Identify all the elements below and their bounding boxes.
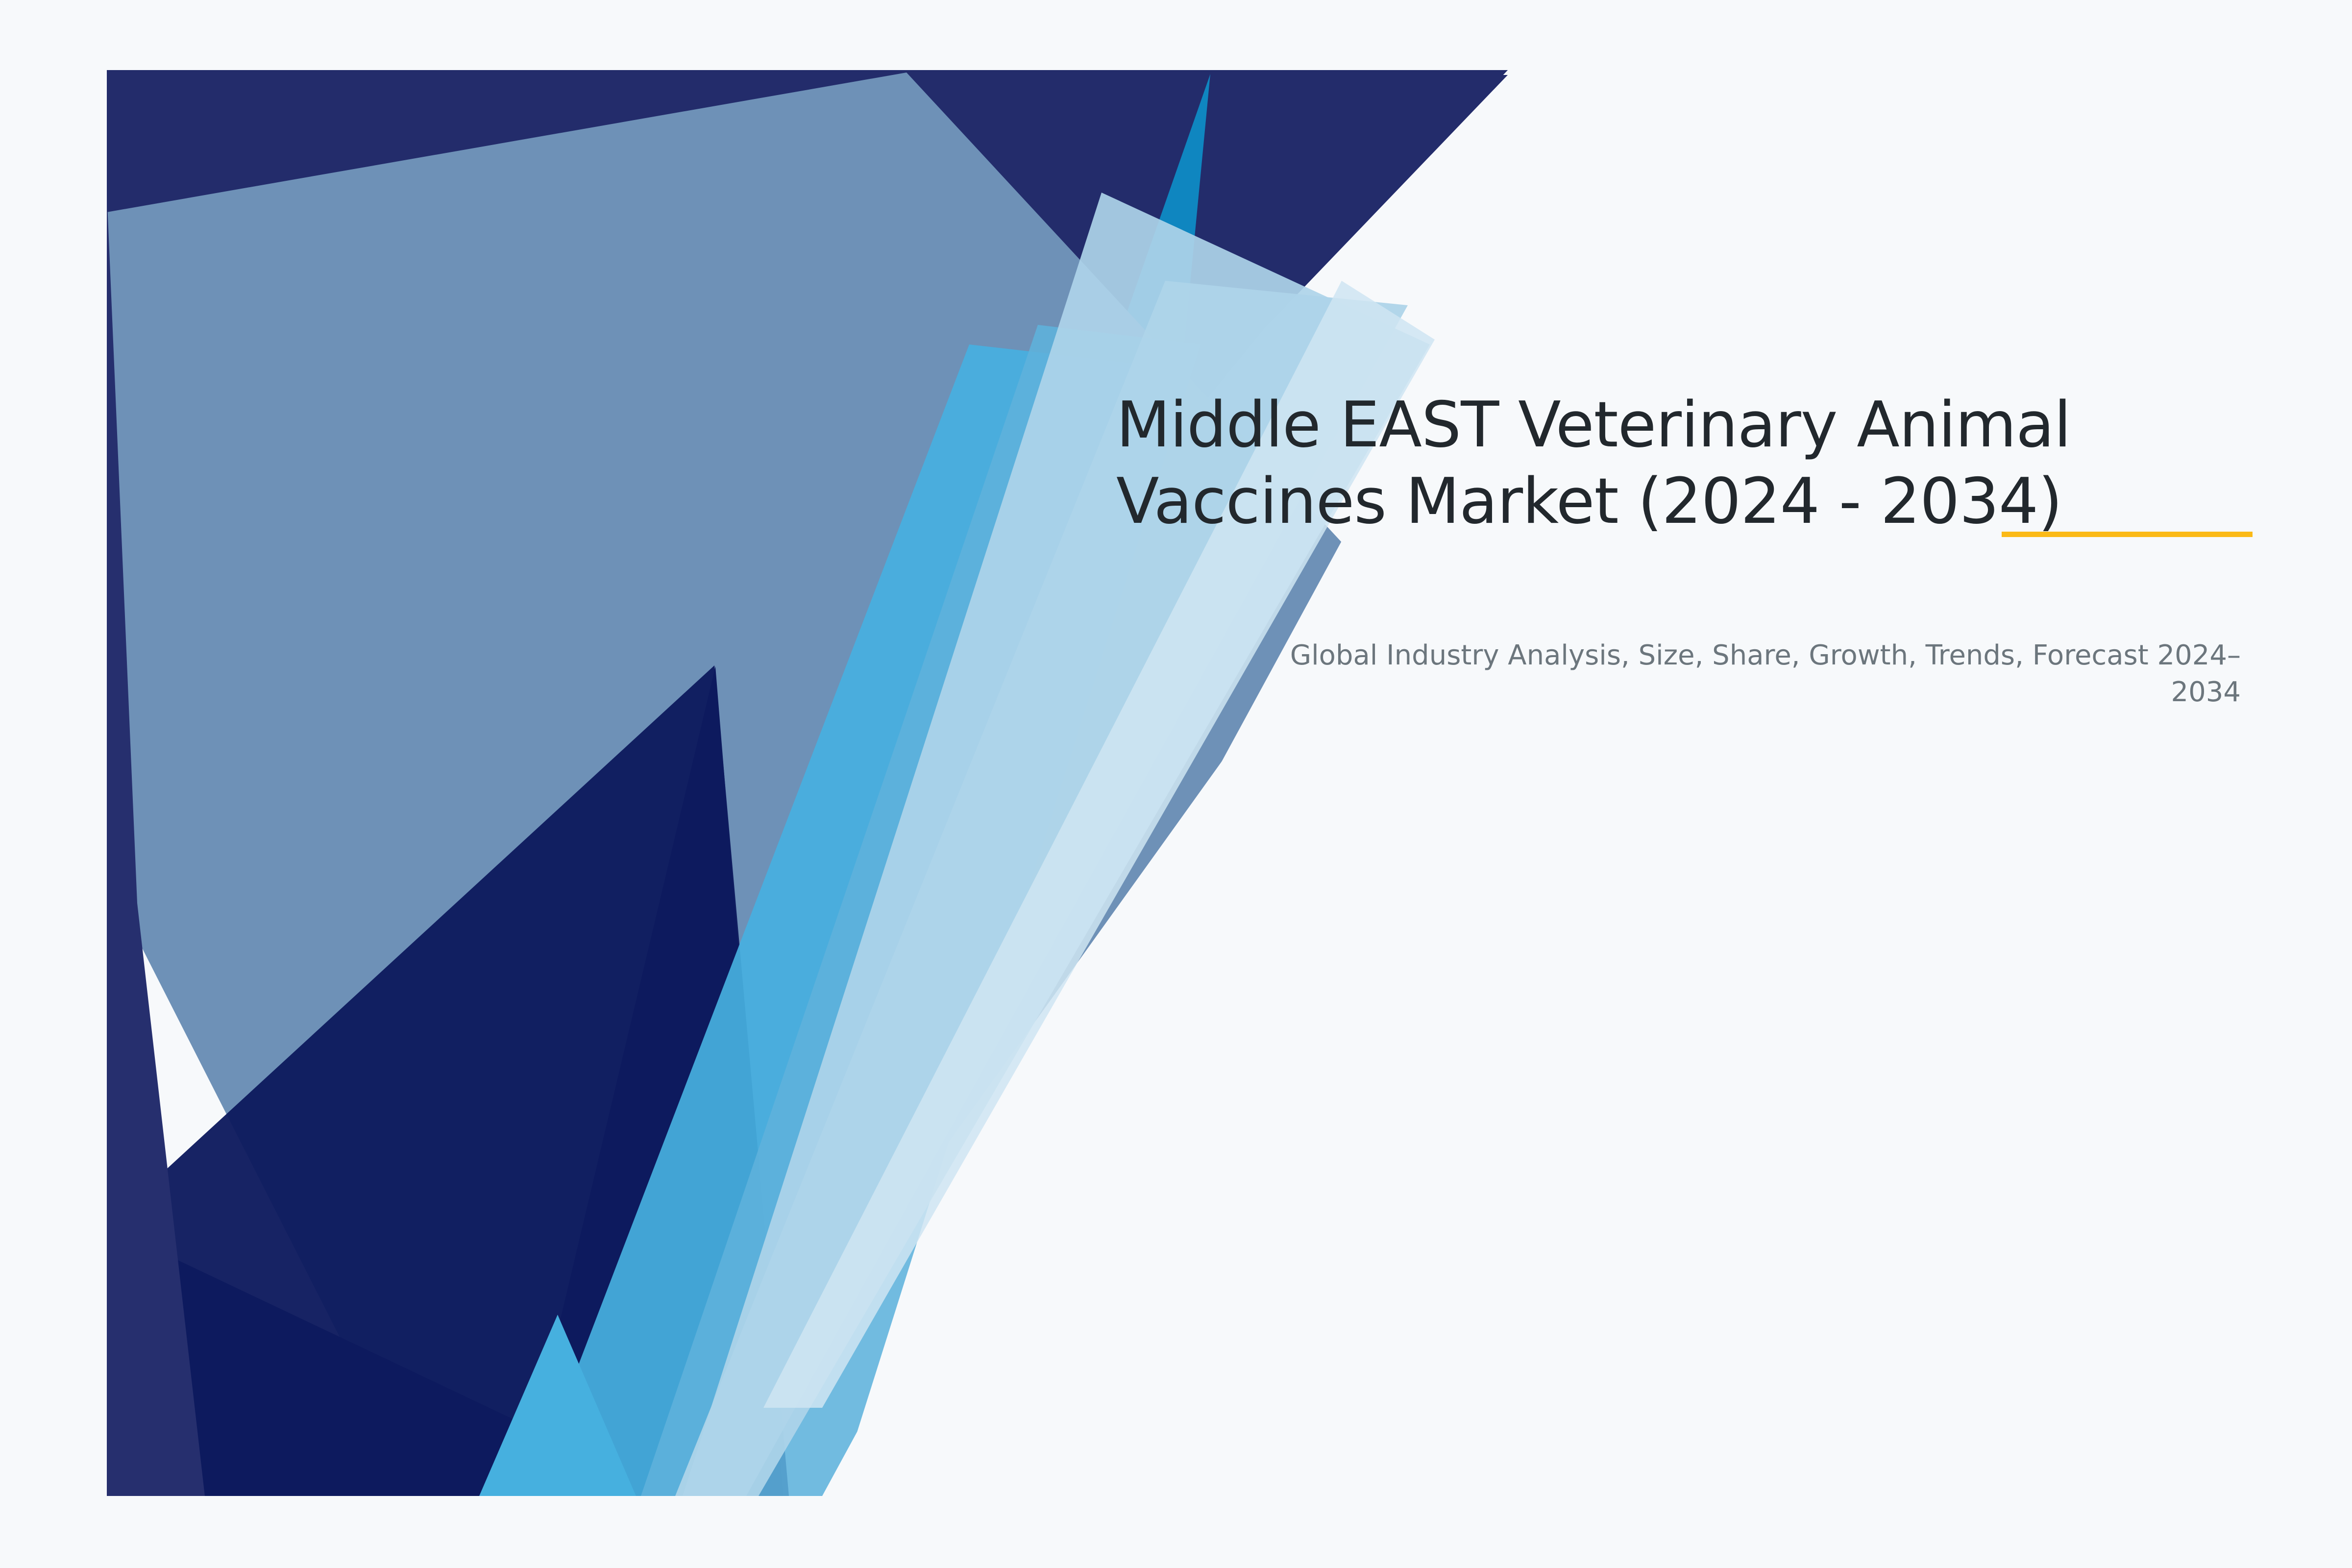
abstract-geometric-cover-graphic [107,70,1509,1496]
title-underline-accent [2002,532,2253,537]
page-title: Middle EAST Veterinary Animal Vaccines M… [1116,387,2243,540]
page-subtitle: Global Industry Analysis, Size, Share, G… [1274,637,2241,710]
subtitle-block: Global Industry Analysis, Size, Share, G… [1274,637,2241,710]
title-block: Middle EAST Veterinary Animal Vaccines M… [1116,387,2243,540]
cover-page: Middle EAST Veterinary Animal Vaccines M… [0,0,2352,1568]
